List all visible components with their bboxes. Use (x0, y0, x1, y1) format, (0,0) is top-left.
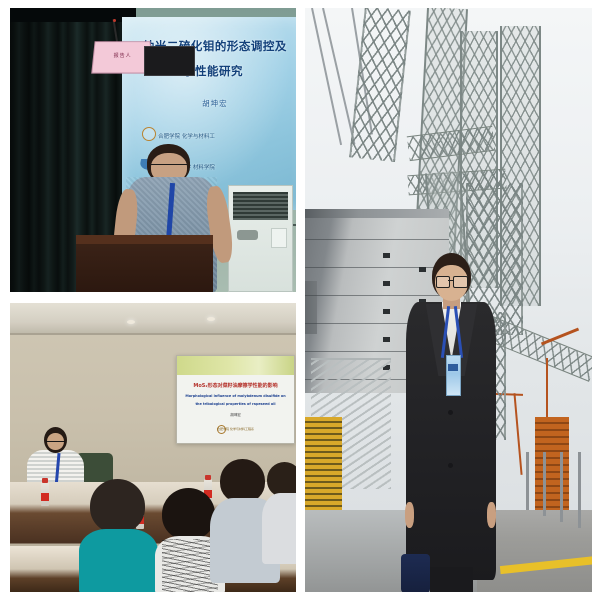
slide-header-band (177, 356, 294, 375)
ac-control-panel (271, 228, 287, 248)
slide-title-en-line2: the tribological properties of rapeseed … (180, 402, 290, 406)
slide-affiliation: 合肥学院 化学与材料工程系 (180, 427, 290, 431)
ceiling (10, 303, 296, 335)
eyeglasses-bridge (448, 280, 453, 281)
audience-member (265, 462, 296, 560)
badge-header-bar (448, 364, 458, 371)
air-conditioner (228, 185, 293, 292)
nameplate-text: 报告人 (113, 54, 131, 59)
ac-brand-badge (237, 230, 258, 239)
seated-speaker-glasses (46, 441, 65, 447)
portrait-subject (403, 253, 501, 580)
eyeglasses-right-lens (453, 276, 468, 288)
orange-equipment-tower (535, 417, 569, 510)
photo-collage: 纳米二硫化钼的形态调控及 学性能研究 胡坤宏 合肥学院 化学与材料工 合肥工业大… (0, 0, 600, 600)
curtain-rail (10, 8, 136, 22)
audience-member (84, 479, 153, 592)
conference-lecture-photo: 纳米二硫化钼的形态调控及 学性能研究 胡坤宏 合肥学院 化学与材料工 合肥工业大… (10, 8, 296, 292)
counterweight-seam (305, 239, 449, 240)
audience-head (162, 488, 215, 540)
subject-right-hand (487, 502, 497, 528)
bottle-cap (42, 478, 48, 483)
orange-rigging-rope (546, 358, 548, 416)
slide-title-cn: MoS₂形态对菜籽油摩擦学性能的影响 (180, 382, 290, 389)
audience-body (79, 529, 159, 592)
subject-left-hand (405, 502, 415, 528)
railing-post (543, 452, 546, 516)
counterweight-slot (383, 309, 390, 314)
audience-body (262, 493, 296, 564)
presenter-glasses (151, 164, 187, 171)
slide-author: 胡坤宏 (129, 98, 296, 109)
subject-trousers (430, 567, 473, 592)
seminar-room-scene: MoS₂形态对菜籽油摩擦学性能的影响 Morphological influen… (10, 303, 296, 592)
slide-author: 胡坤宏 (180, 413, 290, 418)
bottle-cap (205, 475, 211, 480)
counterweight-shadow-face (305, 281, 317, 334)
railing-post (526, 452, 529, 510)
audience-head (267, 462, 296, 497)
audience-head (90, 479, 145, 533)
lecture-hall-scene: 纳米二硫化钼的形态调控及 学性能研究 胡坤宏 合肥学院 化学与材料工 合肥工业大… (10, 8, 296, 292)
university-seal-icon (142, 127, 156, 141)
railing-post (578, 452, 581, 528)
projection-screen: MoS₂形态对菜籽油摩擦学性能的影响 Morphological influen… (176, 355, 295, 444)
ceiling-molding (10, 333, 296, 335)
counterweight-slot (383, 253, 390, 258)
audience-head (220, 459, 265, 503)
podium (76, 235, 213, 292)
bottle-label (41, 493, 49, 501)
slide-affiliation-1: 合肥学院 化学与材料工 (158, 132, 296, 140)
eyeglasses-left-lens (436, 276, 451, 288)
conference-badge (446, 355, 461, 396)
counterweight-slot (383, 337, 390, 342)
podium-top (76, 235, 213, 244)
carried-bag (401, 554, 430, 592)
slide-title-en-line1: Morphological influence of molybdenum di… (180, 394, 290, 398)
seminar-room-photo: MoS₂形态对菜籽油摩擦学性能的影响 Morphological influen… (10, 303, 296, 592)
railing-post (560, 452, 563, 522)
ac-vent (233, 192, 288, 219)
podium-laptop (144, 46, 195, 76)
crane-site-portrait-photo (305, 8, 592, 592)
yellow-equipment-stack (305, 417, 342, 510)
water-bottle (41, 482, 49, 506)
counterweight-slot (383, 281, 390, 286)
